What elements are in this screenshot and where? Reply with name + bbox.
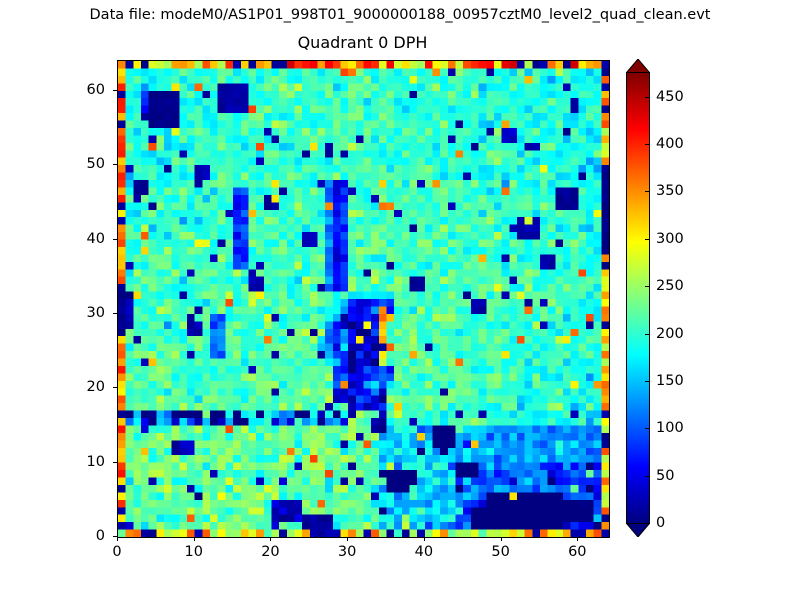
y-tick-mark bbox=[113, 462, 117, 463]
x-tick-label: 0 bbox=[87, 544, 147, 560]
y-tick-label: 30 bbox=[59, 305, 105, 321]
data-file-suptitle: Data file: modeM0/AS1P01_998T01_90000001… bbox=[0, 6, 800, 24]
x-tick-label: 20 bbox=[240, 544, 300, 560]
axes-title: Quadrant 0 DPH bbox=[117, 33, 608, 53]
colorbar-tick-label: 300 bbox=[656, 231, 684, 247]
colorbar[interactable]: 050100150200250300350400450 bbox=[626, 60, 650, 536]
x-tick-label: 10 bbox=[164, 544, 224, 560]
colorbar-tick-mark bbox=[645, 191, 650, 192]
colorbar-tick-label: 0 bbox=[656, 515, 665, 531]
y-tick-label: 20 bbox=[59, 379, 105, 395]
colorbar-tick-label: 350 bbox=[656, 183, 684, 199]
x-tick-mark bbox=[501, 537, 502, 541]
colorbar-tick-mark bbox=[645, 523, 650, 524]
y-tick-label: 60 bbox=[59, 82, 105, 98]
colorbar-tick-mark bbox=[645, 334, 650, 335]
colorbar-body[interactable] bbox=[626, 73, 650, 523]
x-tick-label: 60 bbox=[547, 544, 607, 560]
colorbar-tick-label: 50 bbox=[656, 468, 674, 484]
x-tick-label: 40 bbox=[394, 544, 454, 560]
x-tick-label: 30 bbox=[317, 544, 377, 560]
y-tick-label: 10 bbox=[59, 454, 105, 470]
colorbar-tick-mark bbox=[645, 286, 650, 287]
colorbar-tick-mark bbox=[645, 97, 650, 98]
heatmap-image[interactable] bbox=[118, 61, 609, 537]
x-tick-mark bbox=[577, 537, 578, 541]
y-tick-mark bbox=[113, 90, 117, 91]
colorbar-tick-mark bbox=[645, 239, 650, 240]
x-tick-mark bbox=[270, 537, 271, 541]
colorbar-tick-mark bbox=[645, 144, 650, 145]
colorbar-tick-mark bbox=[645, 476, 650, 477]
x-tick-mark bbox=[117, 537, 118, 541]
colorbar-tick-label: 150 bbox=[656, 373, 684, 389]
x-tick-mark bbox=[424, 537, 425, 541]
y-tick-mark bbox=[113, 536, 117, 537]
x-tick-mark bbox=[347, 537, 348, 541]
heatmap-axes[interactable] bbox=[117, 60, 610, 538]
y-tick-label: 0 bbox=[59, 528, 105, 544]
colorbar-tick-label: 100 bbox=[656, 420, 684, 436]
x-tick-mark bbox=[194, 537, 195, 541]
colorbar-tick-label: 200 bbox=[656, 326, 684, 342]
y-tick-mark bbox=[113, 239, 117, 240]
colorbar-gradient bbox=[627, 73, 649, 523]
colorbar-tick-label: 400 bbox=[656, 136, 684, 152]
colorbar-tick-mark bbox=[645, 381, 650, 382]
colorbar-tick-mark bbox=[645, 428, 650, 429]
y-tick-label: 40 bbox=[59, 231, 105, 247]
y-tick-label: 50 bbox=[59, 156, 105, 172]
colorbar-tick-label: 450 bbox=[656, 89, 684, 105]
y-tick-mark bbox=[113, 164, 117, 165]
colorbar-tick-label: 250 bbox=[656, 278, 684, 294]
y-tick-mark bbox=[113, 387, 117, 388]
y-tick-mark bbox=[113, 313, 117, 314]
x-tick-label: 50 bbox=[471, 544, 531, 560]
colorbar-extend-min-arrow-icon bbox=[626, 523, 650, 537]
figure-canvas: Data file: modeM0/AS1P01_998T01_90000001… bbox=[0, 0, 800, 600]
colorbar-extend-max-arrow-icon bbox=[626, 59, 650, 73]
